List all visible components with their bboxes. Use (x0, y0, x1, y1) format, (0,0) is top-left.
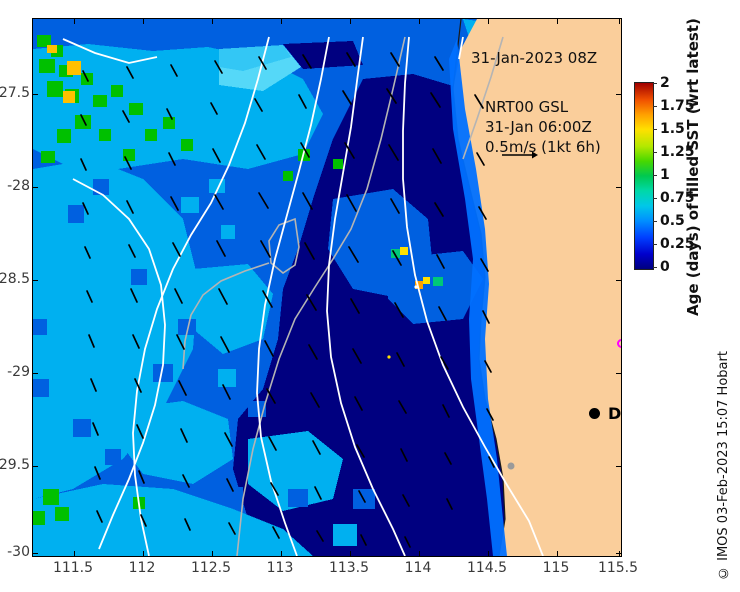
colorbar-tick-label: 2 (660, 75, 670, 91)
gsl-line-1: NRT00 GSL (485, 97, 601, 117)
ytick-label: -28.5 (0, 271, 30, 287)
colorbar-title: Age (days) of filled SST (wrt latest) (681, 22, 705, 312)
xtick-label: 111.5 (53, 560, 93, 576)
figure-root: 31-Jan-2023 08Z NRT00 GSL 31-Jan 06:00Z … (0, 0, 740, 592)
map-plot-area[interactable]: 31-Jan-2023 08Z NRT00 GSL 31-Jan 06:00Z … (32, 18, 622, 557)
argo-marker-icon (617, 339, 622, 348)
ytick-label: -29.5 (0, 457, 30, 473)
dongara-label: Dongara (608, 404, 622, 423)
velocity-scale-arrow-icon (501, 149, 539, 161)
ytick-label: -28 (7, 178, 30, 194)
xtick-label: 113 (267, 560, 294, 576)
date-stamp-label: 31-Jan-2023 08Z (471, 49, 597, 67)
copyright-notice: © IMOS 03-Feb-2023 15:07 Hobart (716, 300, 736, 580)
colorbar-tick-label: 0 (660, 259, 670, 275)
xtick-label: 115.5 (598, 560, 638, 576)
ytick-label: -30 (7, 544, 30, 560)
xtick-label: 112 (129, 560, 156, 576)
ytick-label: -29 (7, 364, 30, 380)
colorbar-gradient (634, 82, 654, 270)
xtick-label: 114 (405, 560, 432, 576)
xtick-label: 114.5 (467, 560, 507, 576)
gsl-line-2: 31-Jan 06:00Z (485, 117, 601, 137)
dongara-dot-icon (589, 408, 600, 419)
dongara-place-marker: Dongara (589, 404, 622, 423)
xtick-label: 112.5 (191, 560, 231, 576)
argo-legend-entry: Argo (617, 334, 622, 353)
colorbar-tick-label: 1 (660, 167, 670, 183)
ytick-label: -27.5 (0, 85, 30, 101)
gsl-annotation-block: NRT00 GSL 31-Jan 06:00Z 0.5m/s (1kt 6h) (485, 97, 601, 157)
xtick-label: 113.5 (329, 560, 369, 576)
xtick-label: 115 (543, 560, 570, 576)
